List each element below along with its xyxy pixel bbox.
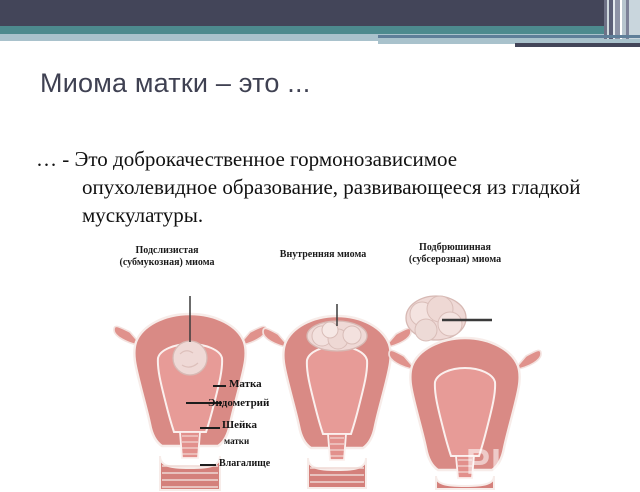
header-accent-rule-slate [378,35,640,38]
anatomy-label-endometrium: Эндометрий [208,397,269,409]
body-lead-line: … - Это доброкачественное гормонозависим… [36,147,457,171]
leader-line-vagina [200,464,216,466]
figure-label-submucous: Подслизистая (субмукозная) миома [108,245,226,269]
anatomy-label-cervix: Шейка [222,419,257,431]
figure-label-subserous: Подбрюшинная (субсерозная) миома [392,242,518,266]
leader-line-cervix [200,427,220,429]
header-accent-rule-navy [515,43,640,47]
anatomy-label-uterus: Матка [229,378,262,390]
anatomy-label-vagina: Влагалище [219,458,270,469]
slide-title: Миома матки – это ... [40,68,600,99]
header-band-teal [0,26,640,34]
leader-line-uterus [213,385,226,387]
slide-body: … - Это доброкачественное гормонозависим… [36,146,616,230]
body-continuation: опухолевидное образование, развивающееся… [36,174,616,230]
header-band-dark [0,0,640,26]
figure-label-intramural: Внутренняя миома [268,249,378,261]
uterus-illustration-subserous [388,290,542,490]
anatomy-label-cervix-line2: матки [224,436,249,446]
uterine-fibroid-diagram: Подслизистая (субмукозная) миома Внутрен… [0,236,640,480]
